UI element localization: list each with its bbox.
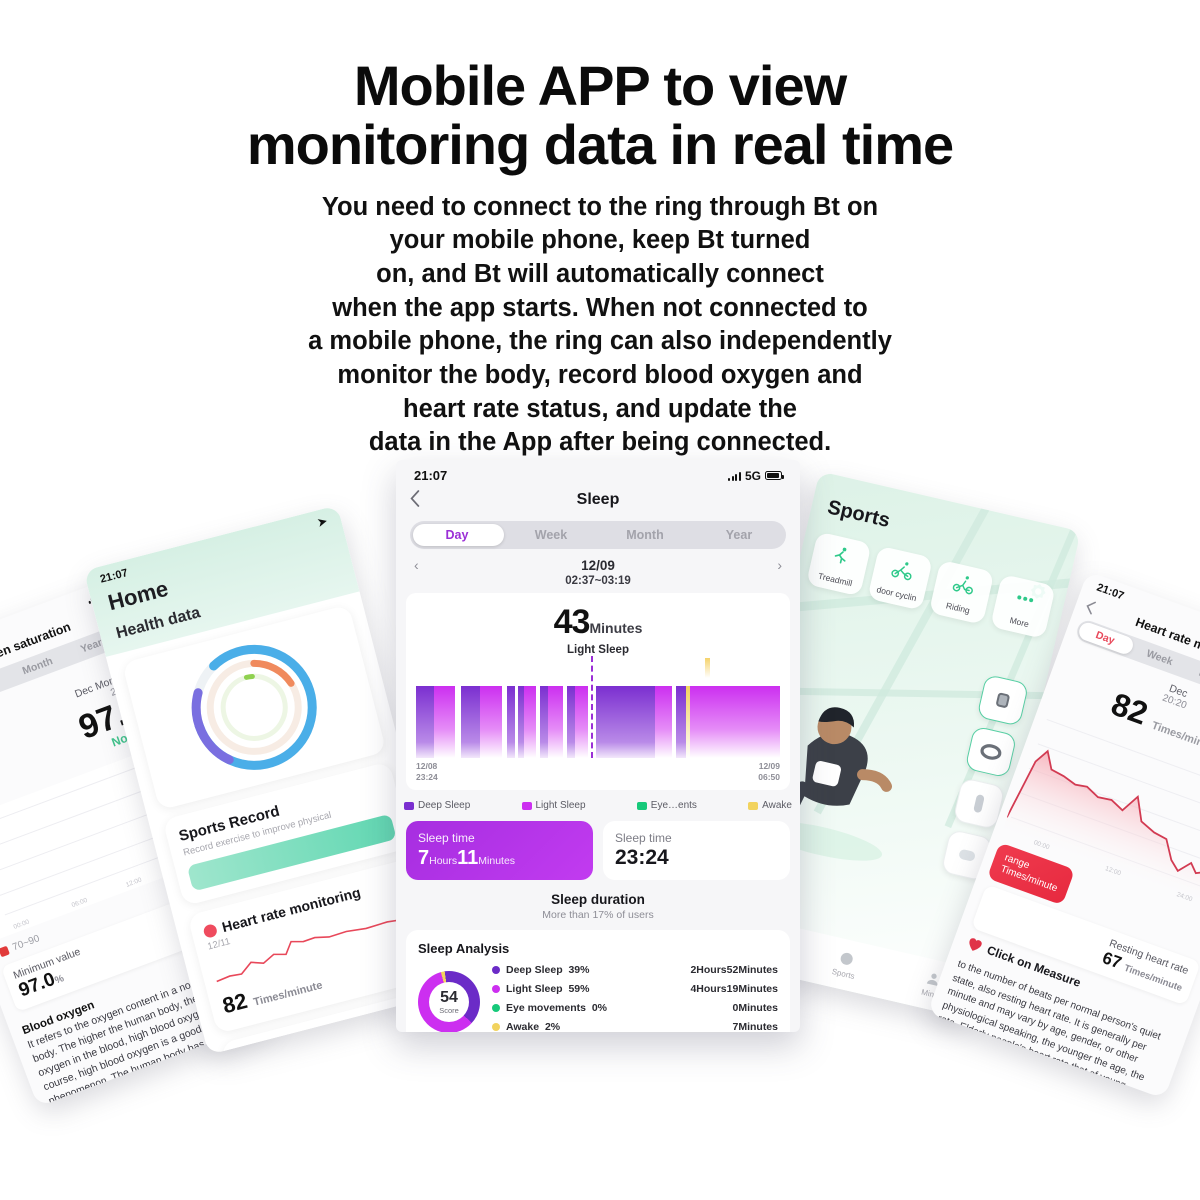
chevron-left-icon	[410, 490, 420, 507]
description-line: on, and Bt will automatically connect	[0, 258, 1200, 292]
back-button[interactable]	[410, 490, 420, 511]
row-percent: 39%	[568, 964, 589, 976]
highlight-minutes: 43	[554, 603, 590, 641]
highlight-duration: 43Minutes	[416, 603, 780, 642]
sleep-total-card[interactable]: Sleep time 7Hours11Minutes	[406, 821, 593, 880]
riding-icon	[950, 571, 976, 597]
status-bar: 21:07 5G	[396, 460, 800, 485]
sleep-score-donut: 54 Score	[418, 971, 480, 1032]
row-label: Light Sleep	[506, 983, 563, 995]
duration-subtitle: More than 17% of users	[396, 909, 800, 921]
heart-icon	[202, 923, 218, 939]
signal-icon	[728, 470, 741, 481]
hypnogram-segment-deep	[596, 686, 655, 758]
tab-week[interactable]: Week	[1130, 642, 1189, 673]
hypnogram-segment-deep	[507, 686, 514, 758]
analysis-row-awake: Awake 2% 7Minutes	[492, 1021, 778, 1032]
description-line: heart rate status, and update the	[0, 393, 1200, 427]
row-percent: 0%	[592, 1002, 607, 1014]
tab-day[interactable]: Day	[410, 528, 504, 542]
headline-line-1: Mobile APP to view	[0, 56, 1200, 115]
indoor-cycling-icon	[889, 557, 915, 583]
legend-item-eye-movements: Eye…ents	[637, 800, 697, 811]
tab-week[interactable]: Week	[504, 528, 598, 542]
page-description: You need to connect to the ring through …	[0, 191, 1200, 460]
score-label: Score	[439, 1006, 459, 1015]
phone-fan-stage: 21:07 chevron-left-icon Blood oxygen sat…	[0, 440, 1200, 1200]
legend-label: 70~90	[11, 933, 41, 953]
row-label: Deep Sleep	[506, 964, 563, 976]
sleep-start-label: Sleep time	[615, 831, 778, 845]
headline-line-2: monitoring data in real time	[0, 115, 1200, 174]
legend-label: Deep Sleep	[418, 800, 470, 811]
sleep-start-card[interactable]: Sleep time 23:24	[603, 821, 790, 880]
blood-drop-icon	[235, 1050, 251, 1054]
description-line: monitor the body, record blood oxygen an…	[0, 359, 1200, 393]
page-title: Sleep	[577, 491, 620, 509]
hypnogram-segment-gap	[455, 686, 462, 758]
current-date: 12/09	[581, 558, 615, 573]
sleep-minutes: 11	[457, 847, 478, 869]
status-time: 21:07	[1095, 582, 1126, 603]
chart-axis: 12/08 23:24 12/09 06:50	[416, 761, 780, 782]
chart-end-time: 06:50	[758, 772, 780, 783]
legend-label: Eye…ents	[651, 800, 697, 811]
prev-day-button[interactable]: ‹	[414, 557, 419, 573]
tab-label: Sports	[831, 967, 856, 981]
rings-icon	[169, 622, 340, 793]
analysis-row-deep-sleep: Deep Sleep 39% 2Hours52Minutes	[492, 964, 778, 976]
description-line: your mobile phone, keep Bt turned	[0, 224, 1200, 258]
x-label: 12:00	[125, 877, 143, 889]
more-dots-icon	[1010, 585, 1040, 612]
sleep-time-label: Sleep time	[418, 831, 581, 845]
score-value: 54	[440, 990, 458, 1006]
navigation-bar: Sleep	[396, 485, 800, 515]
blood-title: Blood pressure	[253, 1022, 356, 1055]
highlight-minutes-unit: Minutes	[589, 620, 642, 636]
row-percent: 2%	[545, 1021, 560, 1032]
sleep-start-value: 23:24	[615, 846, 778, 870]
row-value: 2Hours52Minutes	[690, 964, 778, 976]
sleep-duration-block: Sleep duration More than 17% of users	[396, 892, 800, 921]
status-time: 21:07	[414, 468, 447, 483]
hypnogram-panel: 43Minutes Light Sleep 12/08 23:24 12/09 …	[406, 593, 790, 790]
hypnogram-segment-light	[548, 686, 563, 758]
legend-item-awake: Awake	[748, 800, 792, 811]
row-value: 7Minutes	[732, 1021, 778, 1032]
chart-start-time: 23:24	[416, 772, 438, 783]
tab-sports[interactable]: Sports	[831, 948, 860, 980]
row-label: Eye movements	[506, 1002, 586, 1014]
heart-rate-value: 82	[220, 988, 250, 1018]
legend-label: Awake	[762, 800, 792, 811]
selection-marker	[591, 656, 593, 758]
row-value: 4Hours19Minutes	[690, 983, 778, 995]
sleep-screen: 21:07 5G Sleep Day Week Month Year ‹ 12/…	[396, 460, 800, 1032]
battery-icon	[765, 471, 782, 480]
tab-year[interactable]: Year	[692, 528, 786, 542]
date-navigator[interactable]: ‹ 12/09 ›	[396, 549, 800, 573]
hypnogram-bars	[416, 686, 780, 758]
sleep-minutes-unit: Minutes	[478, 855, 515, 867]
chart-legend: Deep Sleep Light Sleep Eye…ents Awake	[396, 790, 800, 811]
duration-title: Sleep duration	[396, 892, 800, 907]
sleep-summary-cards: Sleep time 7Hours11Minutes Sleep time 23…	[406, 821, 790, 880]
hypnogram-segment-deep	[567, 686, 575, 758]
analysis-title: Sleep Analysis	[418, 941, 778, 956]
analysis-row-light-sleep: Light Sleep 59% 4Hours19Minutes	[492, 983, 778, 995]
x-label: 00:00	[13, 919, 31, 931]
heart-rate-unit: Times/minute	[252, 979, 323, 1008]
activity-rings	[169, 622, 340, 793]
highlight-stage: Light Sleep	[416, 644, 780, 656]
heart-icon	[965, 936, 984, 954]
hypnogram-segment-light	[690, 686, 780, 758]
hypnogram-segment-light	[655, 686, 672, 758]
location-icon: ➤	[316, 514, 328, 529]
awake-marker	[705, 658, 710, 678]
chart-start-date: 12/08	[416, 761, 438, 772]
row-value: 0Minutes	[732, 1002, 778, 1014]
hypnogram-segment-deep	[540, 686, 548, 758]
status-indicators: 5G	[728, 469, 782, 483]
hypnogram-segment-deep	[676, 686, 686, 758]
phone-sleep: 21:07 5G Sleep Day Week Month Year ‹ 12/…	[396, 460, 800, 1032]
chart-end-date: 12/09	[758, 761, 780, 772]
sleep-analysis-card: Sleep Analysis 54 Score Deep Sleep 39% 2…	[406, 930, 790, 1032]
description-line: You need to connect to the ring through …	[0, 191, 1200, 225]
page-header: Mobile APP to view monitoring data in re…	[0, 0, 1200, 460]
tab-month[interactable]: Month	[598, 528, 692, 542]
analysis-row-eye-movements: Eye movements 0% 0Minutes	[492, 1002, 778, 1014]
sleep-hypnogram-chart[interactable]	[416, 674, 780, 758]
hypnogram-segment-deep	[461, 686, 480, 758]
hypnogram-segment-light	[524, 686, 536, 758]
description-line: a mobile phone, the ring can also indepe…	[0, 325, 1200, 359]
legend-label: Light Sleep	[536, 800, 586, 811]
row-label: Awake	[506, 1021, 539, 1032]
network-label: 5G	[745, 469, 761, 483]
page-title: Mobile APP to view monitoring data in re…	[0, 56, 1200, 175]
next-day-button[interactable]: ›	[777, 557, 782, 573]
hypnogram-segment-light	[480, 686, 502, 758]
sleep-hours-unit: Hours	[429, 855, 457, 867]
row-percent: 59%	[568, 983, 589, 995]
period-tabs[interactable]: Day Week Month Year	[410, 521, 786, 549]
legend-item-deep-sleep: Deep Sleep	[404, 800, 470, 811]
treadmill-icon	[827, 543, 853, 569]
sports-icon	[837, 949, 856, 968]
hypnogram-segment-light	[575, 686, 588, 758]
legend-item-light-sleep: Light Sleep	[522, 800, 586, 811]
sleep-hours: 7	[418, 847, 429, 869]
analysis-rows: Deep Sleep 39% 2Hours52Minutes Light Sle…	[492, 964, 778, 1032]
legend-swatch	[0, 946, 10, 958]
hypnogram-segment-light	[434, 686, 454, 758]
hypnogram-segment-deep	[416, 686, 434, 758]
selected-range: 02:37~03:19	[396, 575, 800, 587]
x-label: 06:00	[71, 897, 89, 909]
description-line: when the app starts. When not connected …	[0, 292, 1200, 326]
